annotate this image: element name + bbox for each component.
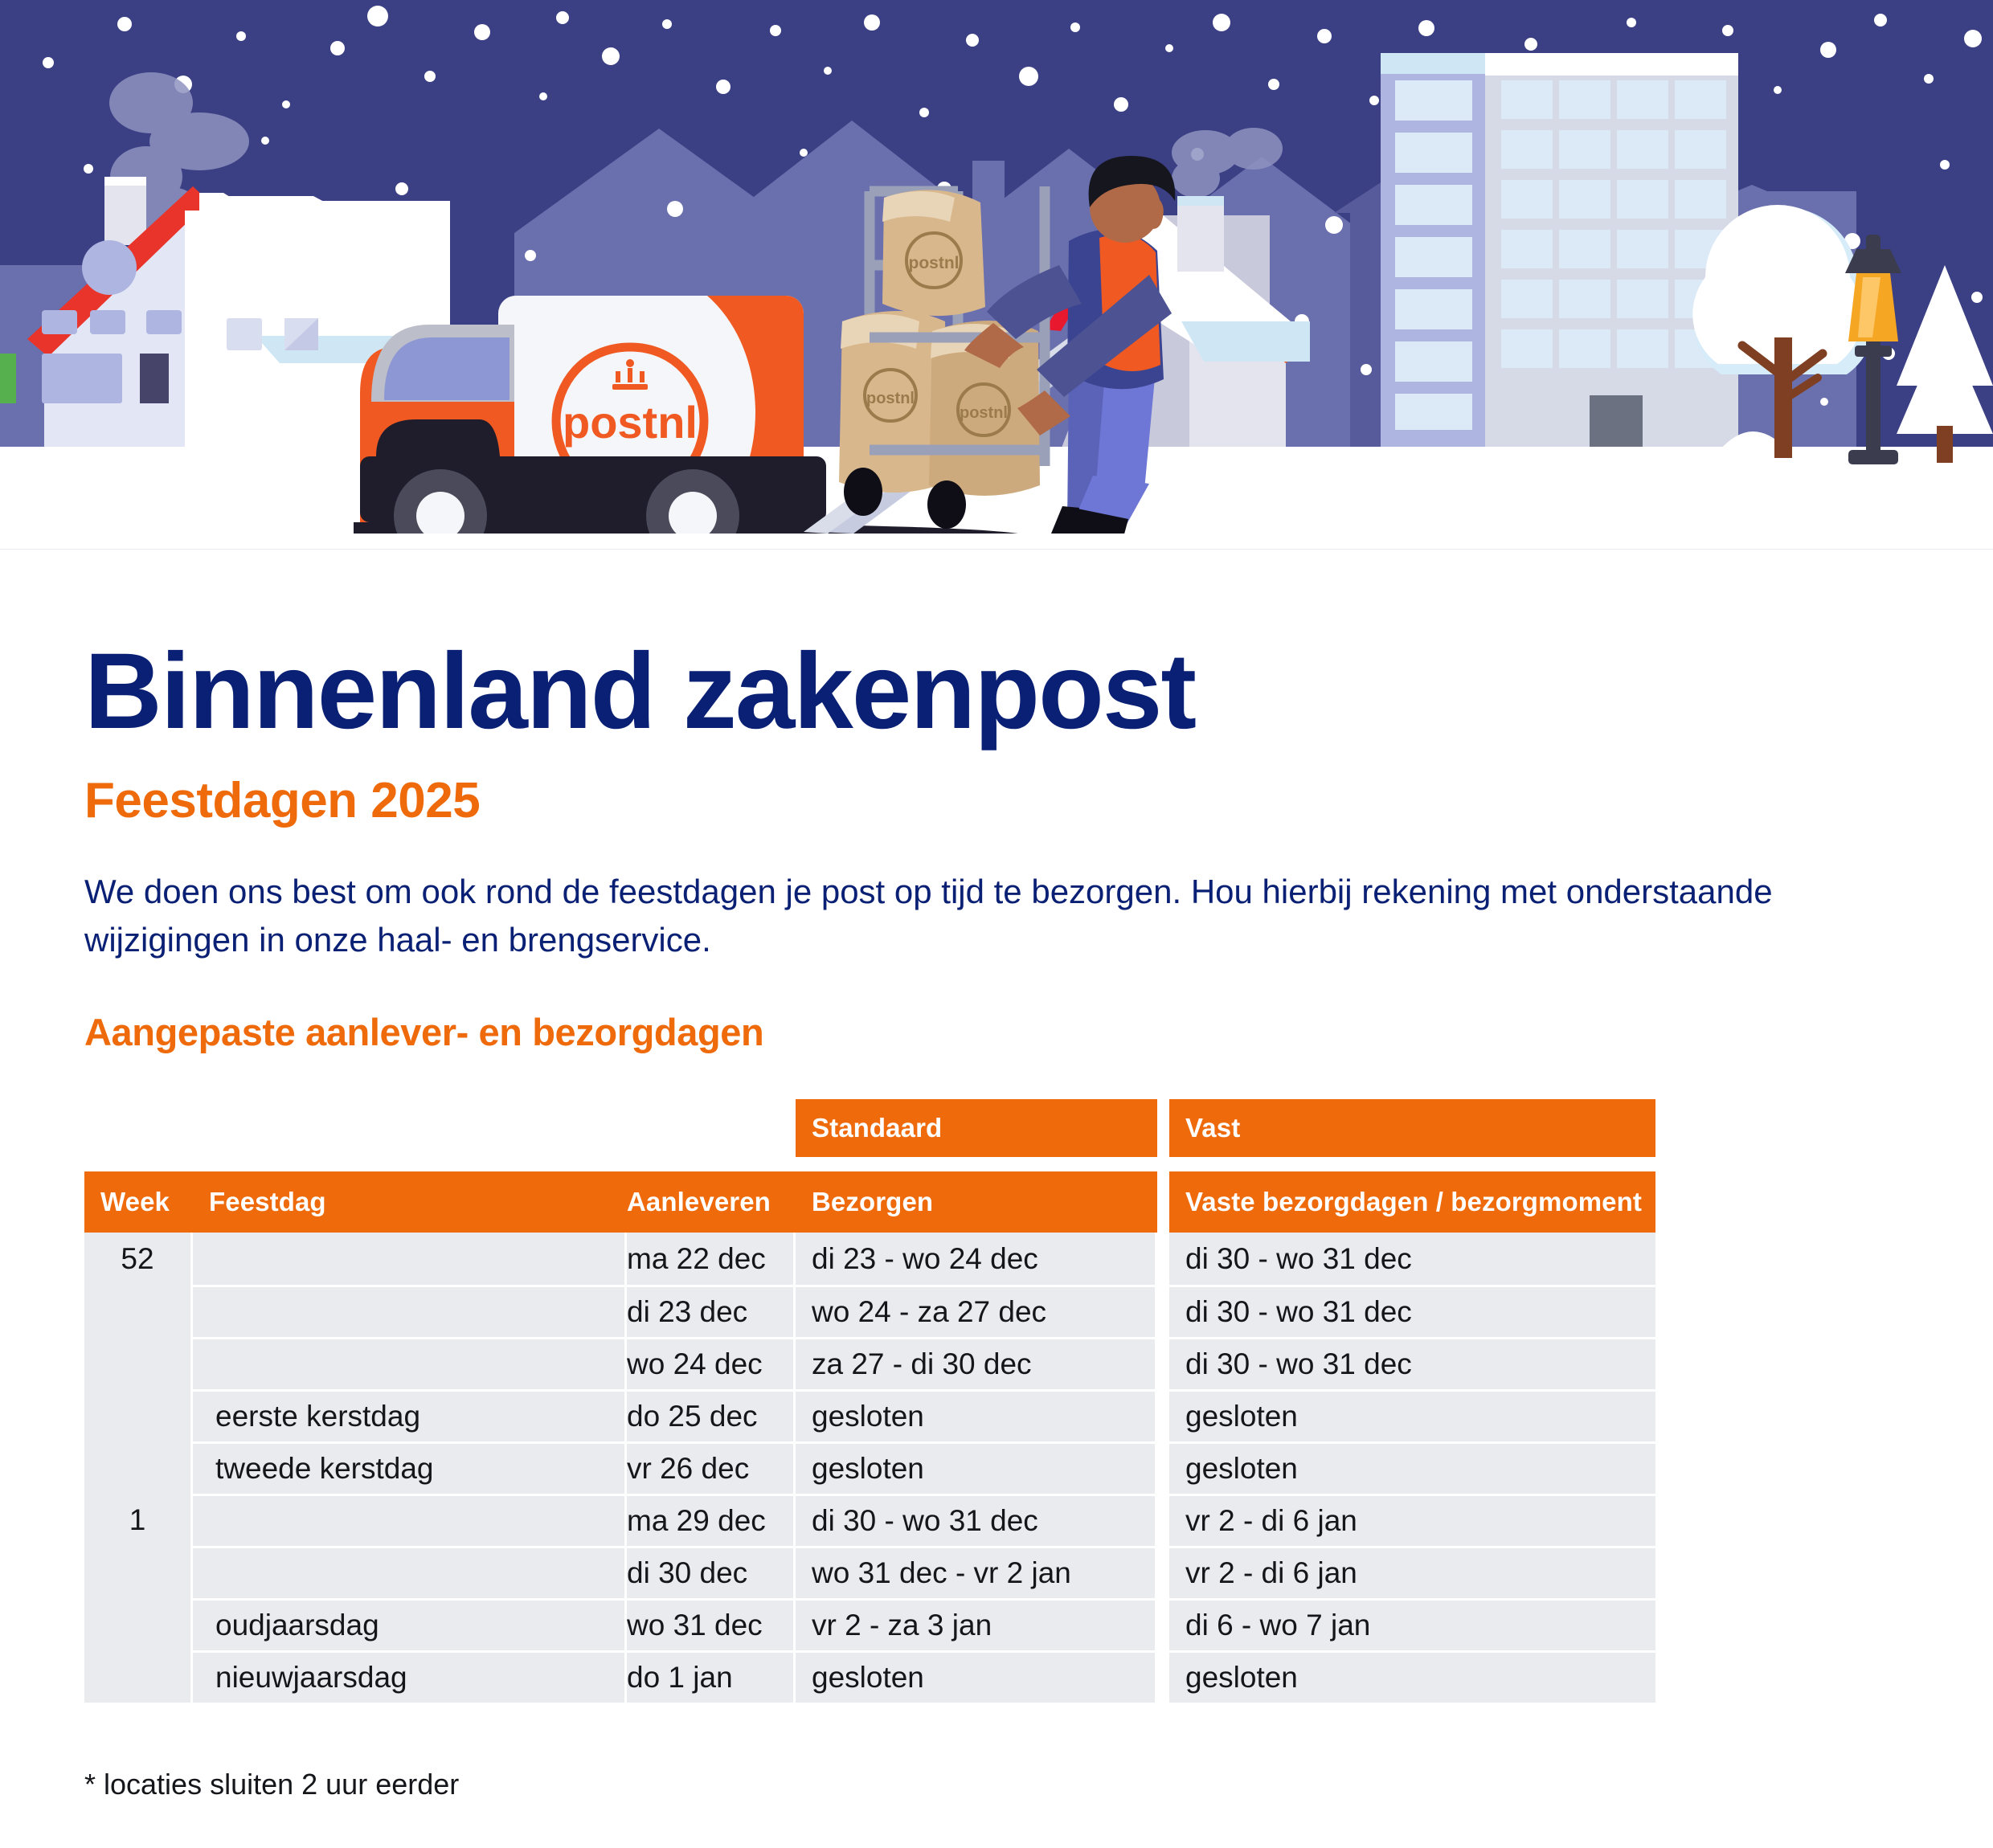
page-content: Binnenland zakenpost Feestdagen 2025 We … [0, 638, 1993, 1801]
cell-vaste-bezorgdagen: di 6 - wo 7 jan [1169, 1598, 1655, 1650]
cell-bezorgen: wo 24 - za 27 dec [796, 1285, 1155, 1337]
cell-bezorgen: gesloten [796, 1650, 1155, 1703]
column-header-bezorgen: Bezorgen [796, 1171, 1157, 1233]
page-title: Binnenland zakenpost [84, 638, 1993, 746]
cell-aanleveren: ma 29 dec [627, 1494, 793, 1546]
column-header-feestdag: Feestdag [193, 1171, 627, 1233]
table-row: oudjaarsdagwo 31 decvr 2 - za 3 jandi 6 … [84, 1598, 1925, 1650]
table-row: tweede kerstdagvr 26 decgeslotengesloten [84, 1441, 1925, 1494]
table-row: 52ma 22 decdi 23 - wo 24 decdi 30 - wo 3… [84, 1233, 1925, 1285]
cell-aanleveren: wo 24 dec [627, 1337, 793, 1389]
cell-feestdag: nieuwjaarsdag [193, 1650, 624, 1703]
cell-aanleveren: do 1 jan [627, 1650, 793, 1703]
svg-text:postnl: postnl [866, 390, 915, 407]
page-subtitle: Feestdagen 2025 [84, 776, 1993, 826]
winter-city-illustration: postnl [0, 0, 1993, 550]
truck-logo-text: postnl [563, 397, 698, 448]
cell-feestdag: eerste kerstdag [193, 1389, 624, 1441]
cell-vaste-bezorgdagen: gesloten [1169, 1650, 1655, 1703]
svg-text:postnl: postnl [909, 254, 960, 272]
cell-feestdag: oudjaarsdag [193, 1598, 624, 1650]
schedule-table: Standaard Vast Week Feestdag Aanleveren … [84, 1099, 1925, 1718]
table-row: di 23 decwo 24 - za 27 decdi 30 - wo 31 … [84, 1285, 1925, 1337]
cell-week [84, 1546, 190, 1598]
cell-vaste-bezorgdagen: di 30 - wo 31 dec [1169, 1233, 1655, 1285]
table-column-header-row: Week Feestdag Aanleveren Bezorgen Vaste … [84, 1171, 1925, 1233]
cell-aanleveren: wo 31 dec [627, 1598, 793, 1650]
cell-vaste-bezorgdagen: di 30 - wo 31 dec [1169, 1337, 1655, 1389]
cell-bezorgen: di 23 - wo 24 dec [796, 1233, 1155, 1285]
section-heading: Aangepaste aanlever- en bezorgdagen [84, 1013, 1993, 1051]
cell-vaste-bezorgdagen: gesloten [1169, 1389, 1655, 1441]
cell-feestdag [193, 1494, 624, 1546]
table-row: eerste kerstdagdo 25 decgeslotengesloten [84, 1389, 1925, 1441]
cell-feestdag [193, 1233, 624, 1285]
hero-banner: postnl [0, 0, 1993, 550]
cell-vaste-bezorgdagen: vr 2 - di 6 jan [1169, 1494, 1655, 1546]
cell-week [84, 1650, 190, 1703]
cell-bezorgen: za 27 - di 30 dec [796, 1337, 1155, 1389]
cell-aanleveren: vr 26 dec [627, 1441, 793, 1494]
table-footnote: * locaties sluiten 2 uur eerder [84, 1768, 1993, 1801]
intro-paragraph: We doen ons best om ook rond de feestdag… [84, 868, 1780, 963]
cell-feestdag [193, 1337, 624, 1389]
table-row: wo 24 decza 27 - di 30 decdi 30 - wo 31 … [84, 1337, 1925, 1389]
table-group-header-row: Standaard Vast [84, 1099, 1925, 1157]
cell-bezorgen: vr 2 - za 3 jan [796, 1598, 1155, 1650]
table-row: 1ma 29 decdi 30 - wo 31 decvr 2 - di 6 j… [84, 1494, 1925, 1546]
hero-divider [0, 549, 1993, 550]
cell-aanleveren: di 30 dec [627, 1546, 793, 1598]
cell-week: 1 [84, 1494, 190, 1546]
cell-vaste-bezorgdagen: di 30 - wo 31 dec [1169, 1285, 1655, 1337]
cell-aanleveren: ma 22 dec [627, 1233, 793, 1285]
column-header-week: Week [84, 1171, 193, 1233]
cell-week [84, 1441, 190, 1494]
cell-vaste-bezorgdagen: gesloten [1169, 1441, 1655, 1494]
cell-week [84, 1389, 190, 1441]
cell-bezorgen: gesloten [796, 1389, 1155, 1441]
group-header-standaard: Standaard [796, 1099, 1157, 1157]
svg-text:postnl: postnl [960, 404, 1008, 422]
table-body: 52ma 22 decdi 23 - wo 24 decdi 30 - wo 3… [84, 1233, 1925, 1703]
cell-feestdag [193, 1546, 624, 1598]
cell-week [84, 1337, 190, 1389]
cell-bezorgen: gesloten [796, 1441, 1155, 1494]
cell-aanleveren: do 25 dec [627, 1389, 793, 1441]
cell-week: 52 [84, 1233, 190, 1285]
cell-vaste-bezorgdagen: vr 2 - di 6 jan [1169, 1546, 1655, 1598]
cell-bezorgen: wo 31 dec - vr 2 jan [796, 1546, 1155, 1598]
cell-week [84, 1285, 190, 1337]
column-header-vaste: Vaste bezorgdagen / bezorgmoment [1169, 1171, 1655, 1233]
cell-feestdag: tweede kerstdag [193, 1441, 624, 1494]
table-row: di 30 decwo 31 dec - vr 2 janvr 2 - di 6… [84, 1546, 1925, 1598]
cell-feestdag [193, 1285, 624, 1337]
cell-aanleveren: di 23 dec [627, 1285, 793, 1337]
group-header-vast: Vast [1169, 1099, 1655, 1157]
table-row: nieuwjaarsdagdo 1 jangeslotengesloten [84, 1650, 1925, 1703]
column-header-aanleveren: Aanleveren [627, 1171, 796, 1233]
cell-week [84, 1598, 190, 1650]
cell-bezorgen: di 30 - wo 31 dec [796, 1494, 1155, 1546]
